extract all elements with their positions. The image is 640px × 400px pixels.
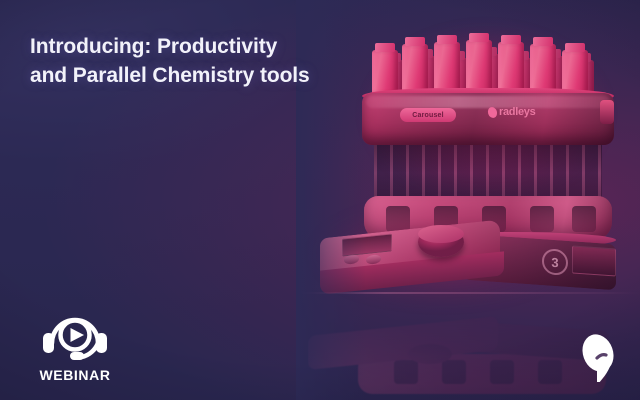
webinar-badge: WEBINAR <box>27 307 123 383</box>
headphones-play-icon <box>40 307 110 363</box>
radleys-logo-mark <box>578 330 620 382</box>
page-title: Introducing: Productivity and Parallel C… <box>30 33 390 91</box>
webinar-promo-banner: Carousel radleys 3 <box>0 0 640 400</box>
headline-line-1: Introducing: Productivity <box>30 33 390 62</box>
headline-line-2: and Parallel Chemistry tools <box>30 62 390 91</box>
webinar-label: WEBINAR <box>27 367 123 383</box>
